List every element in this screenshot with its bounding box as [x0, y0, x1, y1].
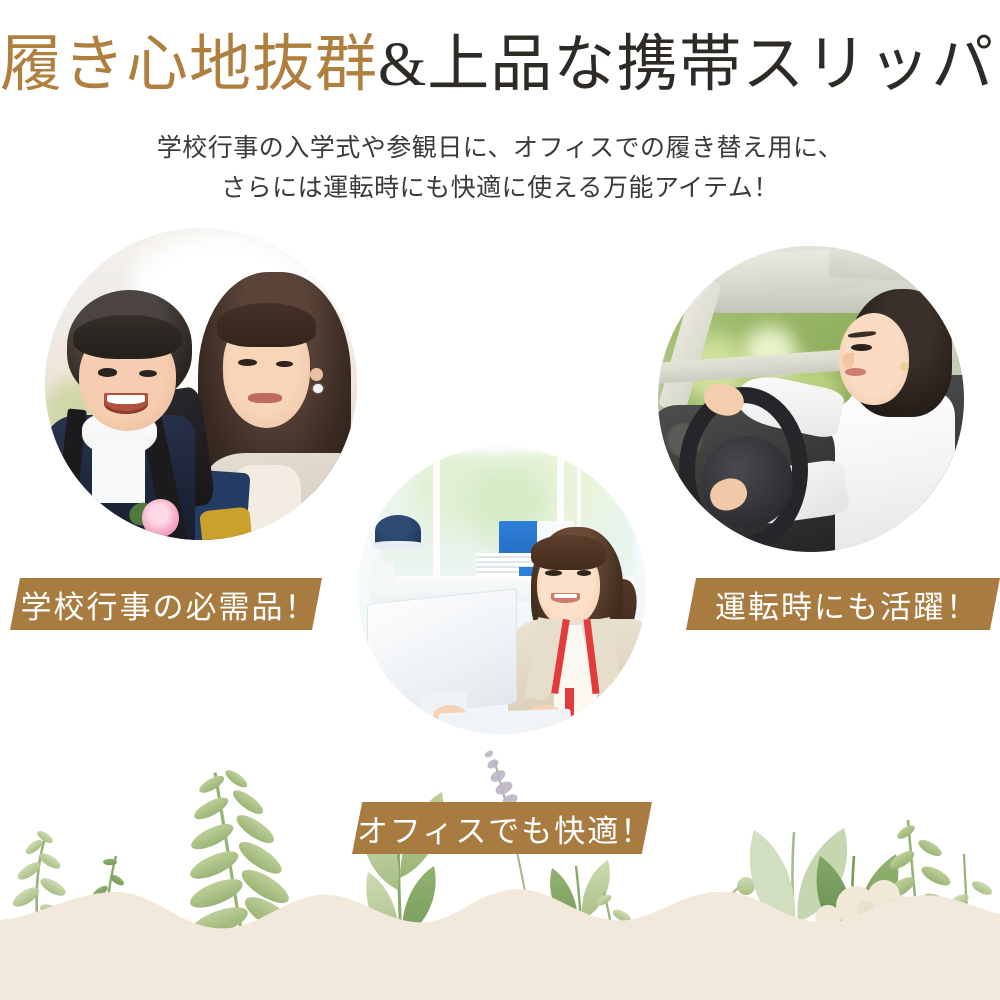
subtitle-line-1: 学校行事の入学式や参観日に、オフィスでの履き替え用に、	[0, 128, 1000, 164]
photo-office-image	[358, 446, 646, 734]
photo-school-event	[45, 228, 357, 540]
photo-office	[358, 446, 646, 734]
ribbon-school-event-label: 学校行事の必需品！	[21, 582, 318, 627]
headline-dark-text: &上品な携帯スリッパ♪	[378, 31, 1000, 99]
ribbon-school-event: 学校行事の必需品！	[10, 578, 322, 630]
ribbon-office-label: オフィスでも快適！	[357, 806, 653, 851]
marketing-banner: 履き心地抜群&上品な携帯スリッパ♪ 学校行事の入学式や参観日に、オフィスでの履き…	[0, 0, 1000, 1000]
page-title: 履き心地抜群&上品な携帯スリッパ♪	[0, 34, 1000, 96]
photo-driving-image	[658, 246, 964, 552]
ribbon-driving: 運転時にも活躍！	[686, 578, 1000, 630]
headline-gold-text: 履き心地抜群	[0, 31, 378, 99]
subtitle-line-2: さらには運転時にも快適に使える万能アイテム！	[0, 168, 1000, 204]
ribbon-driving-label: 運転時にも活躍！	[715, 582, 979, 627]
ribbon-office: オフィスでも快適！	[352, 802, 652, 854]
photo-driving	[658, 246, 964, 552]
botanical-decoration	[0, 710, 1000, 1000]
photo-school-event-image	[45, 228, 357, 540]
